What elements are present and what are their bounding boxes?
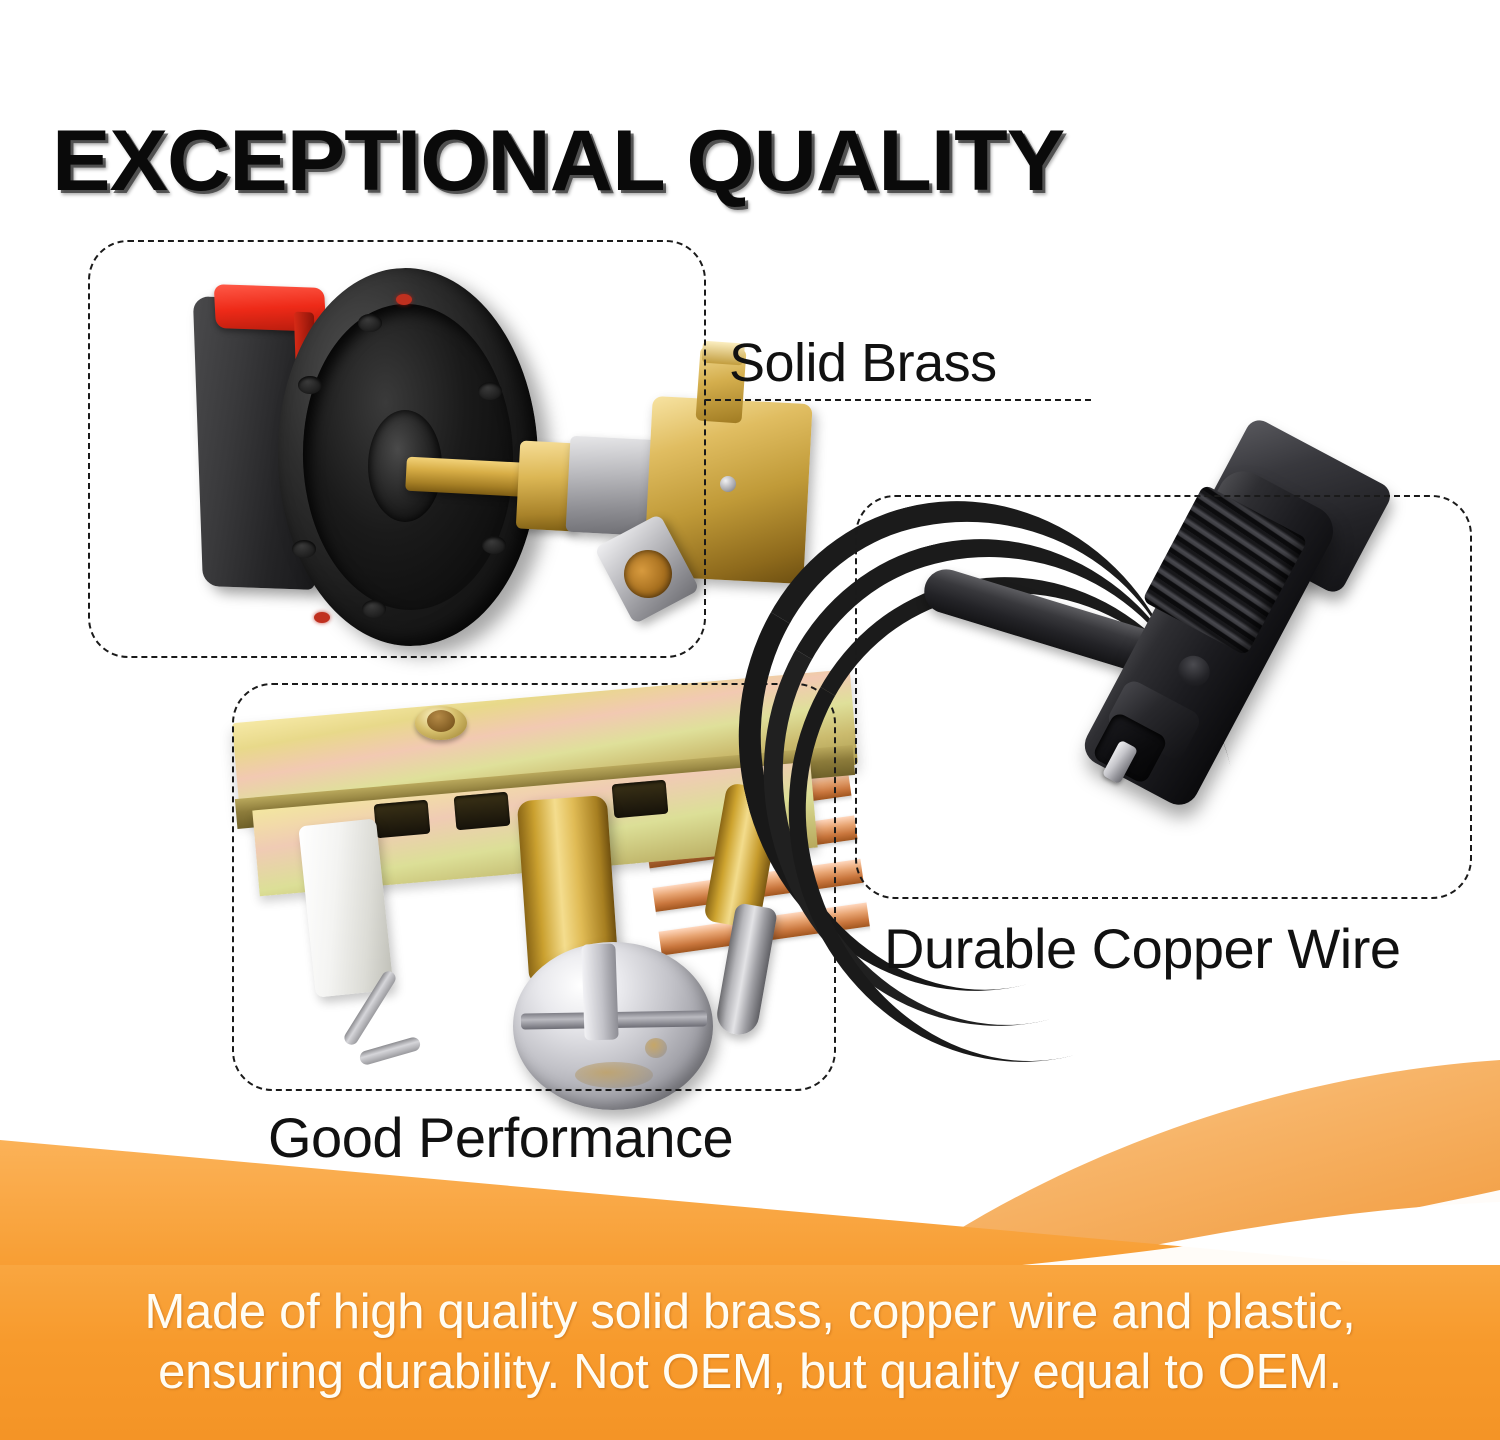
callout-box-solid-brass [88, 240, 706, 658]
footer-line-2: ensuring durability. Not OEM, but qualit… [0, 1342, 1500, 1402]
footer-line-1: Made of high quality solid brass, copper… [0, 1282, 1500, 1342]
valve-screw [720, 476, 736, 492]
callout-label-solid-brass: Solid Brass [729, 332, 997, 394]
page-title: EXCEPTIONAL QUALITY [52, 118, 1064, 204]
callout-leader-line-solid-brass [705, 399, 1091, 401]
footer-text: Made of high quality solid brass, copper… [0, 1282, 1500, 1402]
product-infographic: EXCEPTIONAL QUALITY Solid Brass [0, 0, 1500, 1440]
callout-box-durable-copper-wire [855, 495, 1472, 899]
callout-label-durable-copper-wire: Durable Copper Wire [884, 916, 1400, 981]
